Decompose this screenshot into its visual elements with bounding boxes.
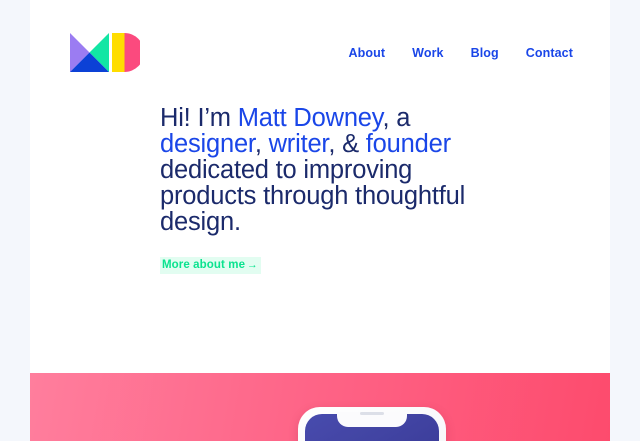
md-monogram-logo	[70, 33, 140, 72]
logo-link[interactable]	[70, 33, 140, 72]
content-card: About Work Blog Contact Hi! I’m Matt Dow…	[30, 0, 610, 441]
hero-section: Hi! I’m Matt Downey, a designer, writer,…	[30, 105, 610, 274]
headline-sep-1: ,	[255, 130, 269, 158]
headline-line5: design.	[160, 208, 241, 236]
headline-name: Matt Downey	[238, 104, 383, 132]
nav-link-about[interactable]: About	[349, 46, 386, 60]
site-header: About Work Blog Contact	[30, 0, 610, 105]
hero-headline: Hi! I’m Matt Downey, a designer, writer,…	[160, 105, 610, 235]
more-about-me-link[interactable]: More about me→	[160, 257, 261, 274]
headline-role-designer: designer	[160, 130, 255, 158]
headline-role-writer: writer	[269, 130, 329, 158]
page-root: About Work Blog Contact Hi! I’m Matt Dow…	[0, 0, 640, 441]
nav-link-blog[interactable]: Blog	[471, 46, 499, 60]
phone-speaker-icon	[360, 412, 384, 415]
headline-sep-2: , &	[328, 130, 365, 158]
headline-line4: products through thoughtful	[160, 182, 465, 210]
cta-wrapper: More about me→	[160, 255, 610, 274]
nav-link-work[interactable]: Work	[412, 46, 443, 60]
nav-link-contact[interactable]: Contact	[526, 46, 573, 60]
headline-greeting: Hi! I’m	[160, 104, 238, 132]
arrow-right-icon: →	[245, 259, 258, 271]
cta-label: More about me	[162, 259, 245, 271]
headline-line3: dedicated to improving	[160, 156, 412, 184]
headline-line1-tail: , a	[382, 104, 410, 132]
showcase-band	[30, 373, 610, 441]
phone-mockup	[298, 407, 446, 441]
headline-role-founder: founder	[366, 130, 451, 158]
main-nav: About Work Blog Contact	[349, 46, 573, 60]
